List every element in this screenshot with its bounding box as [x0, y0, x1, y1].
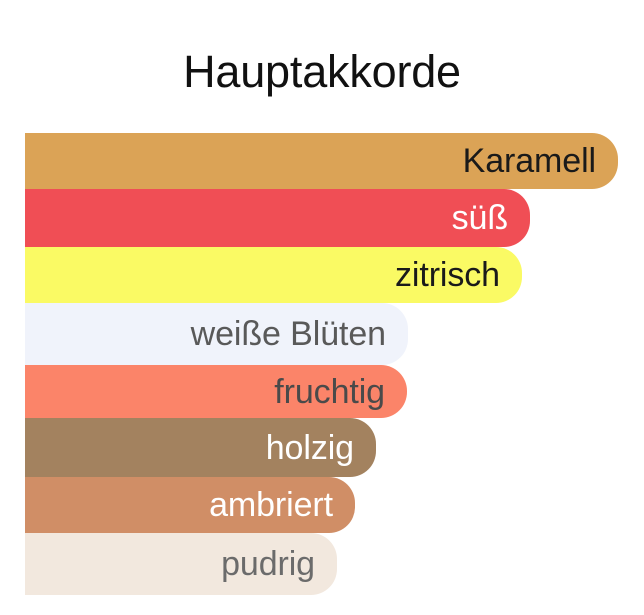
accord-bar-label: fruchtig [274, 373, 385, 411]
accord-bar-label: süß [452, 199, 508, 237]
accord-bar-label: ambriert [209, 486, 333, 524]
accord-bar[interactable]: weiße Blüten [25, 303, 408, 365]
accord-bar[interactable]: holzig [25, 418, 376, 477]
accord-bar[interactable]: pudrig [25, 533, 337, 595]
accord-bar-label: holzig [266, 429, 354, 467]
accord-bar-label: Karamell [463, 142, 596, 180]
accord-bar[interactable]: fruchtig [25, 365, 407, 418]
accord-bar-label: weiße Blüten [191, 315, 386, 353]
main-accords-chart: Hauptakkorde Karamellsüßzitrischweiße Bl… [0, 0, 644, 615]
accord-bar[interactable]: süß [25, 189, 530, 247]
accord-bar-label: pudrig [221, 545, 315, 583]
accord-bar[interactable]: zitrisch [25, 247, 522, 303]
bar-list: Karamellsüßzitrischweiße Blütenfruchtigh… [0, 0, 644, 615]
accord-bar[interactable]: ambriert [25, 477, 355, 533]
accord-bar-label: zitrisch [395, 256, 500, 294]
accord-bar[interactable]: Karamell [25, 133, 618, 189]
